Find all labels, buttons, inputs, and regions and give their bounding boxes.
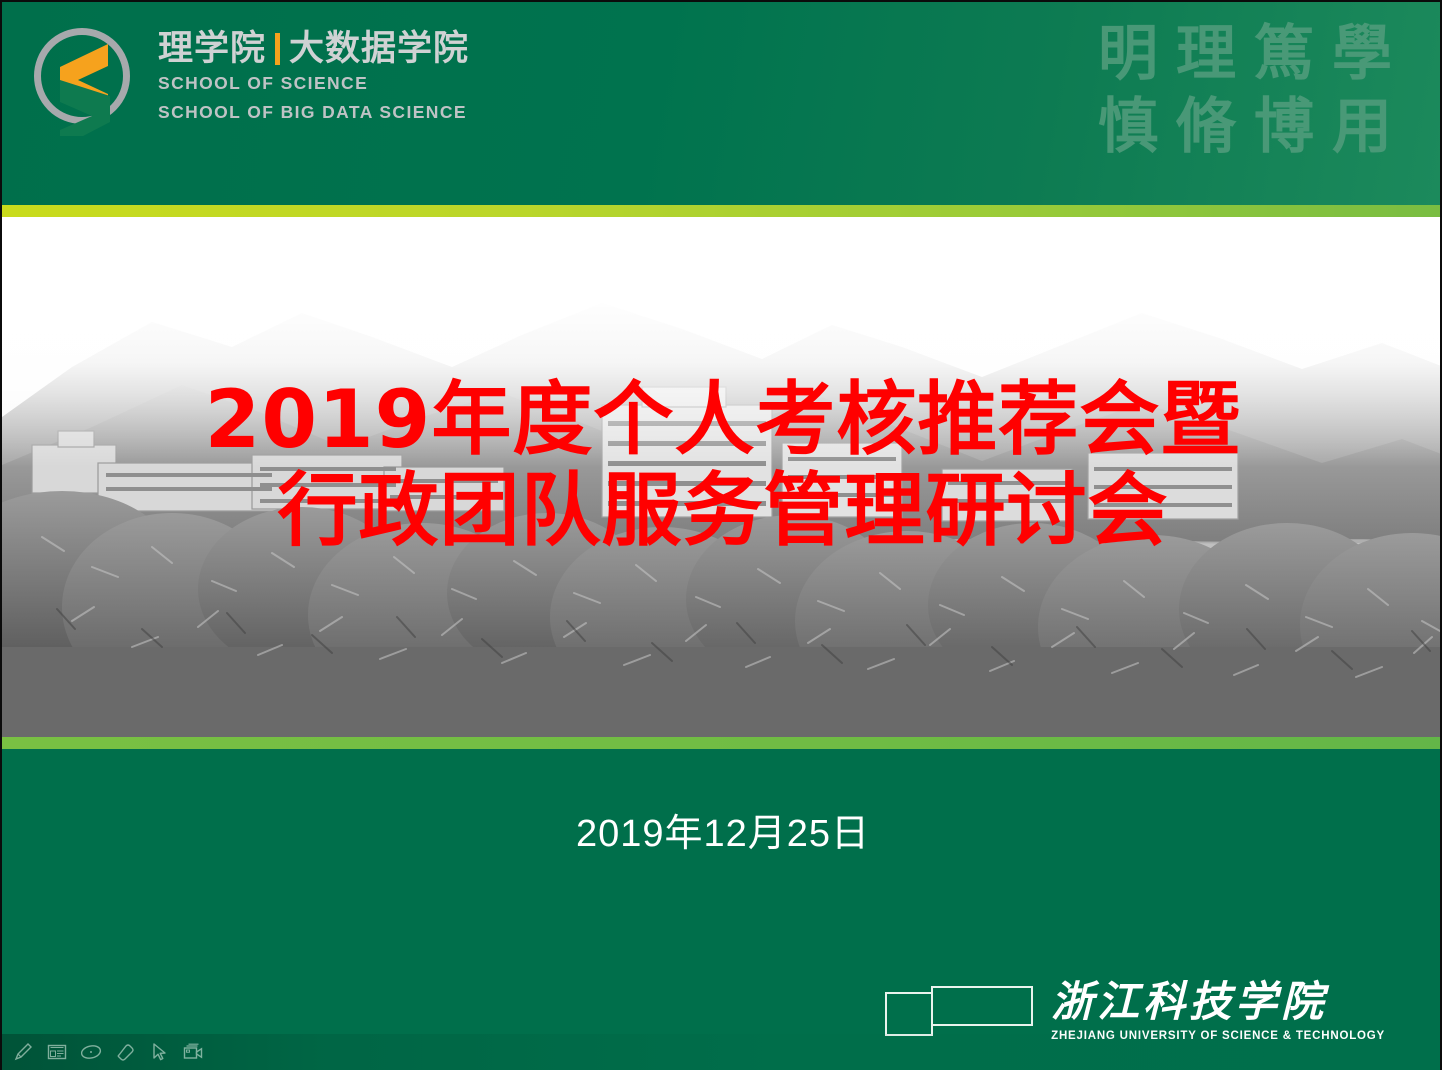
motto-char-2: 理	[1176, 18, 1236, 91]
motto-char-4: 學	[1332, 18, 1392, 91]
slide-header: 理学院 大数据学院 SCHOOL OF SCIENCE SCHOOL OF BI…	[2, 2, 1442, 205]
slide-date: 2019年12月25日	[2, 802, 1442, 857]
university-name-block: 浙江科技学院 ZHEJIANG UNIVERSITY OF SCIENCE & …	[1051, 981, 1385, 1042]
video-camera-icon[interactable]	[178, 1039, 208, 1065]
university-motto: 明 理 篤 學 慎 脩 博 用	[1098, 18, 1392, 164]
slide-title: 2019年度个人考核推荐会暨 行政团队服务管理研讨会	[2, 374, 1442, 556]
brand-english-line-1: SCHOOL OF SCIENCE	[158, 72, 469, 95]
school-logo-icon	[30, 24, 142, 136]
motto-char-8: 用	[1332, 91, 1392, 164]
ellipse-icon[interactable]	[76, 1039, 106, 1065]
university-mark-rect	[931, 986, 1033, 1026]
green-divider-stripe	[2, 737, 1442, 749]
presentation-annotation-toolbar[interactable]	[2, 1034, 1442, 1070]
university-name-cn: 浙江科技学院	[1051, 981, 1385, 1023]
motto-char-3: 篤	[1254, 18, 1314, 91]
pen-icon[interactable]	[8, 1039, 38, 1065]
motto-char-6: 脩	[1176, 91, 1236, 164]
brand-divider	[275, 33, 280, 65]
title-line-2: 行政团队服务管理研讨会	[2, 465, 1442, 556]
university-mark-icon	[885, 986, 1033, 1038]
brand-cn-part1: 理学院	[158, 30, 266, 68]
eraser-icon[interactable]	[110, 1039, 140, 1065]
school-brand: 理学院 大数据学院 SCHOOL OF SCIENCE SCHOOL OF BI…	[30, 24, 469, 136]
university-logo: 浙江科技学院 ZHEJIANG UNIVERSITY OF SCIENCE & …	[885, 981, 1385, 1042]
title-line-1: 2019年度个人考核推荐会暨	[2, 374, 1442, 465]
whiteboard-icon[interactable]	[42, 1039, 72, 1065]
cursor-icon[interactable]	[144, 1039, 174, 1065]
motto-char-5: 慎	[1098, 91, 1158, 164]
brand-english-line-2: SCHOOL OF BIG DATA SCIENCE	[158, 101, 469, 124]
motto-char-1: 明	[1098, 18, 1158, 91]
presentation-slide: 理学院 大数据学院 SCHOOL OF SCIENCE SCHOOL OF BI…	[0, 0, 1442, 1070]
university-mark-square	[885, 992, 933, 1036]
motto-char-7: 博	[1254, 91, 1314, 164]
brand-chinese-name: 理学院 大数据学院	[158, 30, 469, 68]
brand-cn-part2: 大数据学院	[289, 30, 469, 68]
lime-divider-stripe	[2, 205, 1442, 217]
brand-text-block: 理学院 大数据学院 SCHOOL OF SCIENCE SCHOOL OF BI…	[158, 30, 469, 131]
